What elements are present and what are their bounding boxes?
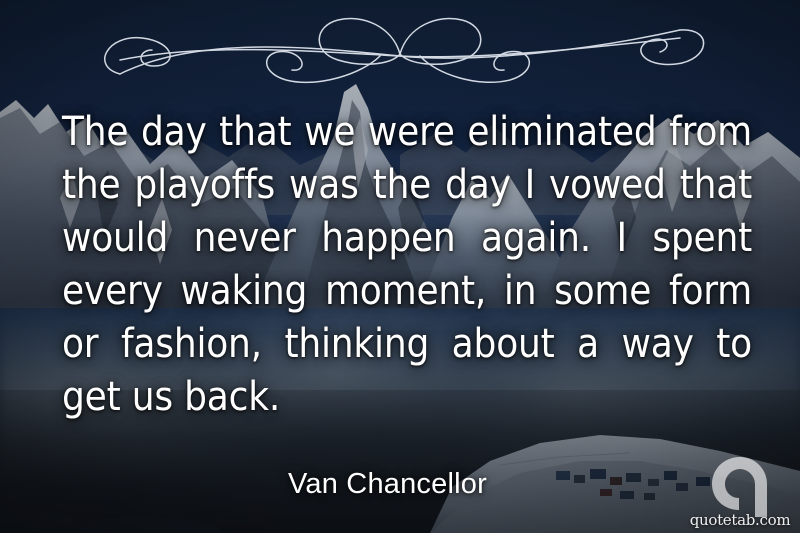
quote-card: The day that we were eliminated from the… — [0, 0, 800, 533]
decorative-flourish-icon — [80, 8, 720, 86]
quote-text: The day that we were eliminated from the… — [62, 106, 752, 424]
quotetab-logo-icon[interactable] — [688, 451, 792, 517]
watermark[interactable]: quotetab.com — [688, 451, 792, 529]
quote-author: Van Chancellor — [288, 468, 487, 501]
watermark-brand-text[interactable]: quotetab.com — [688, 511, 792, 529]
